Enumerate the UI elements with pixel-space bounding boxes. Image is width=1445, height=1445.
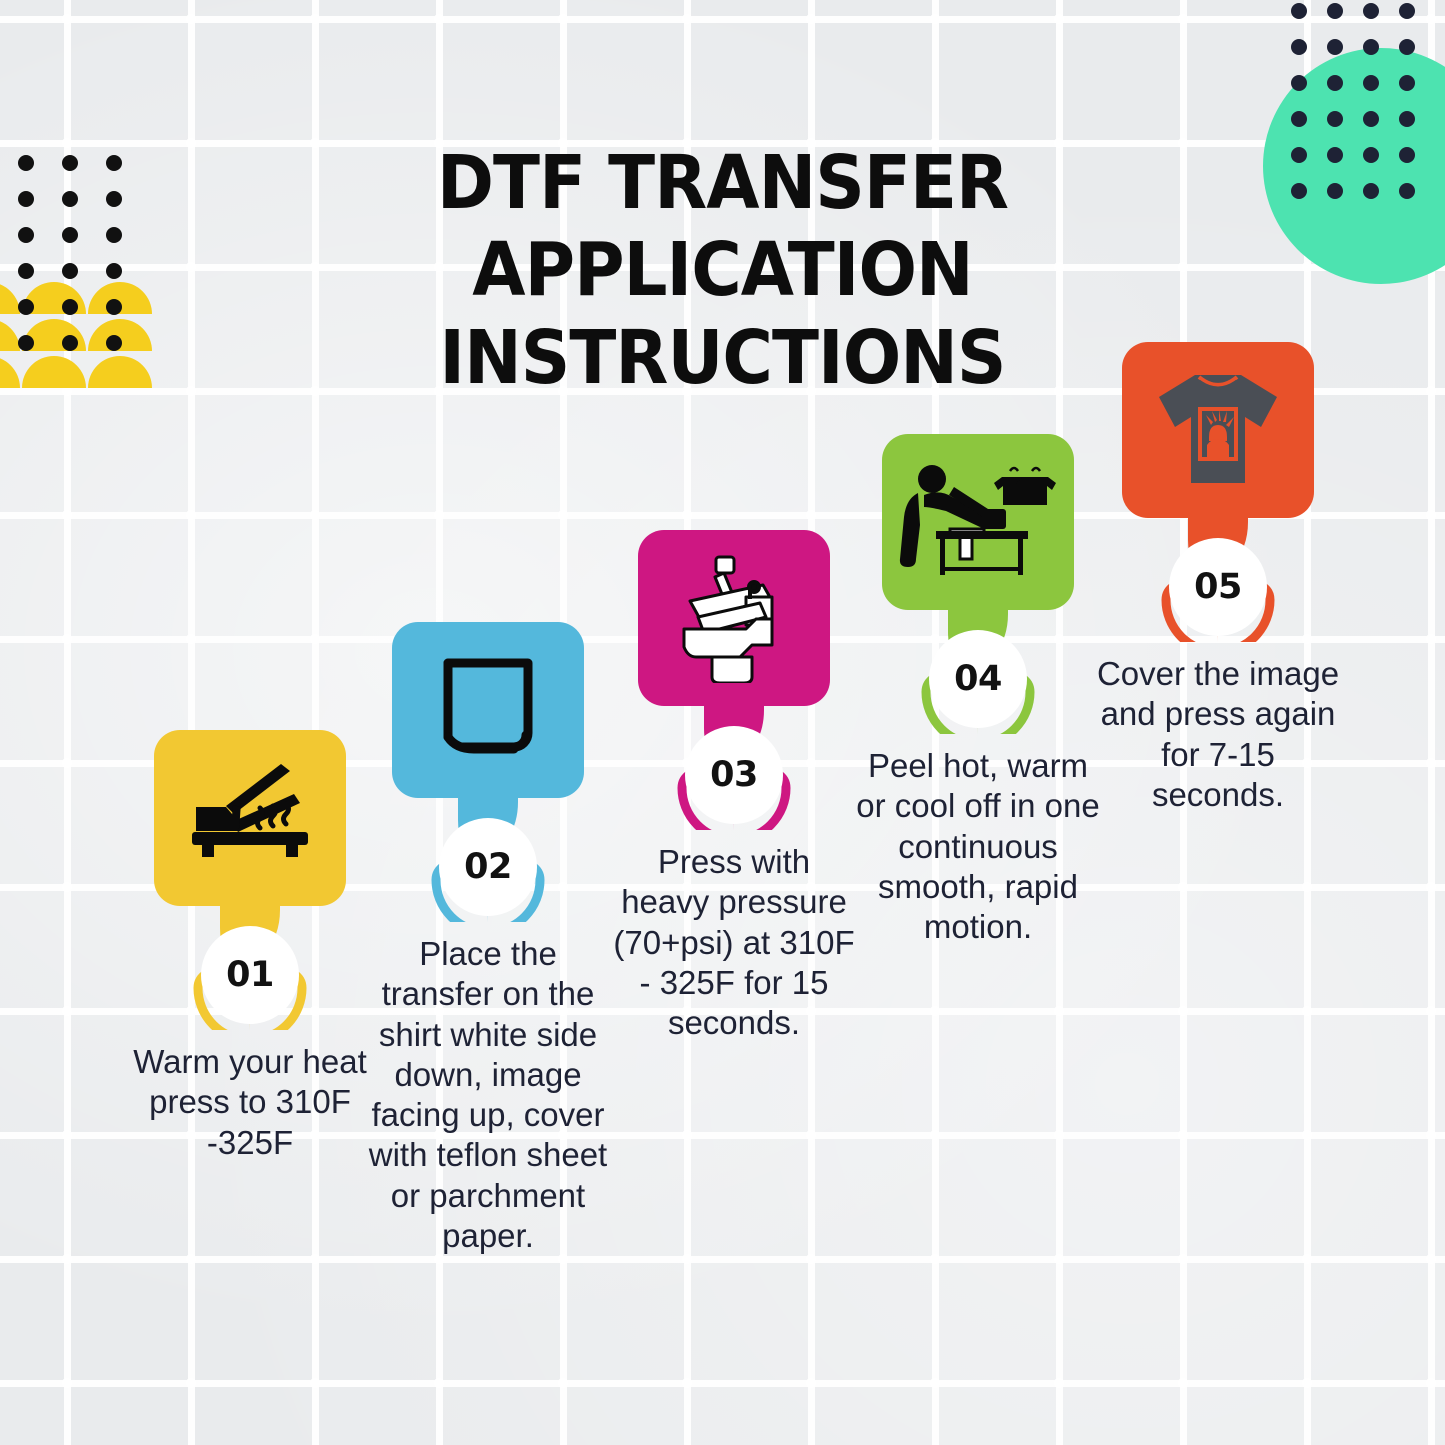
step-01: 01 Warm your heat press to 310F -325F	[124, 730, 376, 1163]
steps-container: 01 Warm your heat press to 310F -325F	[0, 0, 1445, 1445]
heat-press-icon	[188, 762, 312, 874]
printed-tshirt-icon	[1147, 365, 1289, 495]
step-05-caption: Cover the image and press again for 7-15…	[1092, 654, 1344, 815]
step-01-number: 01	[201, 926, 299, 1024]
peel-transfer-icon	[898, 457, 1058, 587]
step-03-number: 03	[685, 726, 783, 824]
step-05-number: 05	[1169, 538, 1267, 636]
step-02-icon-card[interactable]	[392, 622, 584, 798]
transfer-sheet-icon	[432, 655, 544, 765]
step-03-icon-card[interactable]	[638, 530, 830, 706]
step-01-icon-card[interactable]	[154, 730, 346, 906]
step-03-caption: Press with heavy pressure (70+psi) at 31…	[608, 842, 860, 1043]
step-04: 04 Peel hot, warm or cool off in one con…	[852, 434, 1104, 947]
step-02-number: 02	[439, 818, 537, 916]
step-04-caption: Peel hot, warm or cool off in one contin…	[852, 746, 1104, 947]
step-04-number: 04	[929, 630, 1027, 728]
step-02: 02 Place the transfer on the shirt white…	[362, 622, 614, 1256]
step-03: 03 Press with heavy pressure (70+psi) at…	[608, 530, 860, 1043]
step-04-icon-card[interactable]	[882, 434, 1074, 610]
step-01-caption: Warm your heat press to 310F -325F	[124, 1042, 376, 1163]
step-02-caption: Place the transfer on the shirt white si…	[362, 934, 614, 1256]
step-05: 05 Cover the image and press again for 7…	[1092, 342, 1344, 815]
heat-press-machine-icon	[668, 553, 800, 683]
step-05-icon-card[interactable]	[1122, 342, 1314, 518]
